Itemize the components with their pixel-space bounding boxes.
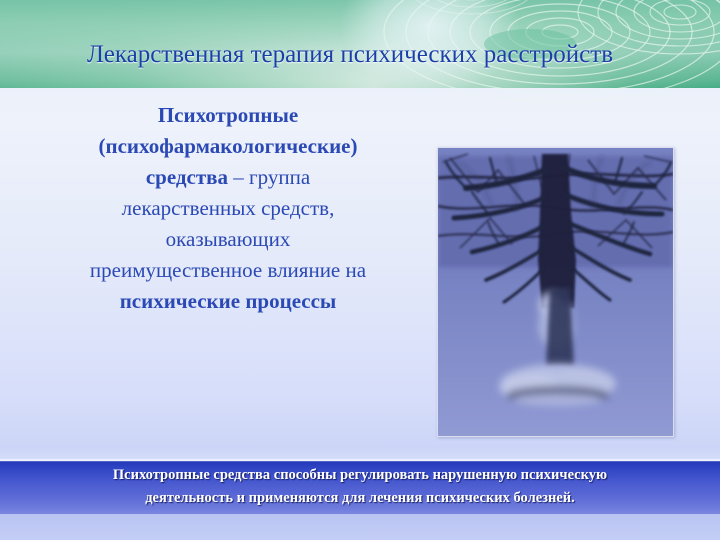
slide-footer-band [0, 514, 720, 540]
banner-line: Психотропные средства способны регулиров… [0, 464, 720, 487]
body-line-bold: средства [146, 165, 228, 189]
slide-title: Лекарственная терапия психических расстр… [0, 40, 700, 70]
body-line-normal: лекарственных средств, [122, 196, 335, 220]
body-line: оказывающих [22, 224, 434, 255]
body-line: лекарственных средств, [22, 193, 434, 224]
body-line: средства – группа [22, 162, 434, 193]
summary-banner-text: Психотропные средства способны регулиров… [0, 464, 720, 510]
body-line-bold: (психофармакологические) [99, 134, 358, 158]
body-line: психические процессы [22, 286, 434, 317]
body-line: Психотропные [22, 100, 434, 131]
body-line-normal: преимущественное влияние на [90, 258, 366, 282]
body-line-normal: – группа [228, 165, 310, 189]
banner-line: деятельность и применяются для лечения п… [0, 487, 720, 510]
body-line: (психофармакологические) [22, 131, 434, 162]
body-line-bold: психические процессы [120, 289, 337, 313]
body-line: преимущественное влияние на [22, 255, 434, 286]
slide-body-text: Психотропные (психофармакологические) ср… [22, 100, 434, 317]
presentation-slide: Лекарственная терапия психических расстр… [0, 0, 720, 540]
tree-photo [437, 147, 674, 437]
body-line-bold: Психотропные [158, 103, 298, 127]
body-line-normal: оказывающих [166, 227, 291, 251]
